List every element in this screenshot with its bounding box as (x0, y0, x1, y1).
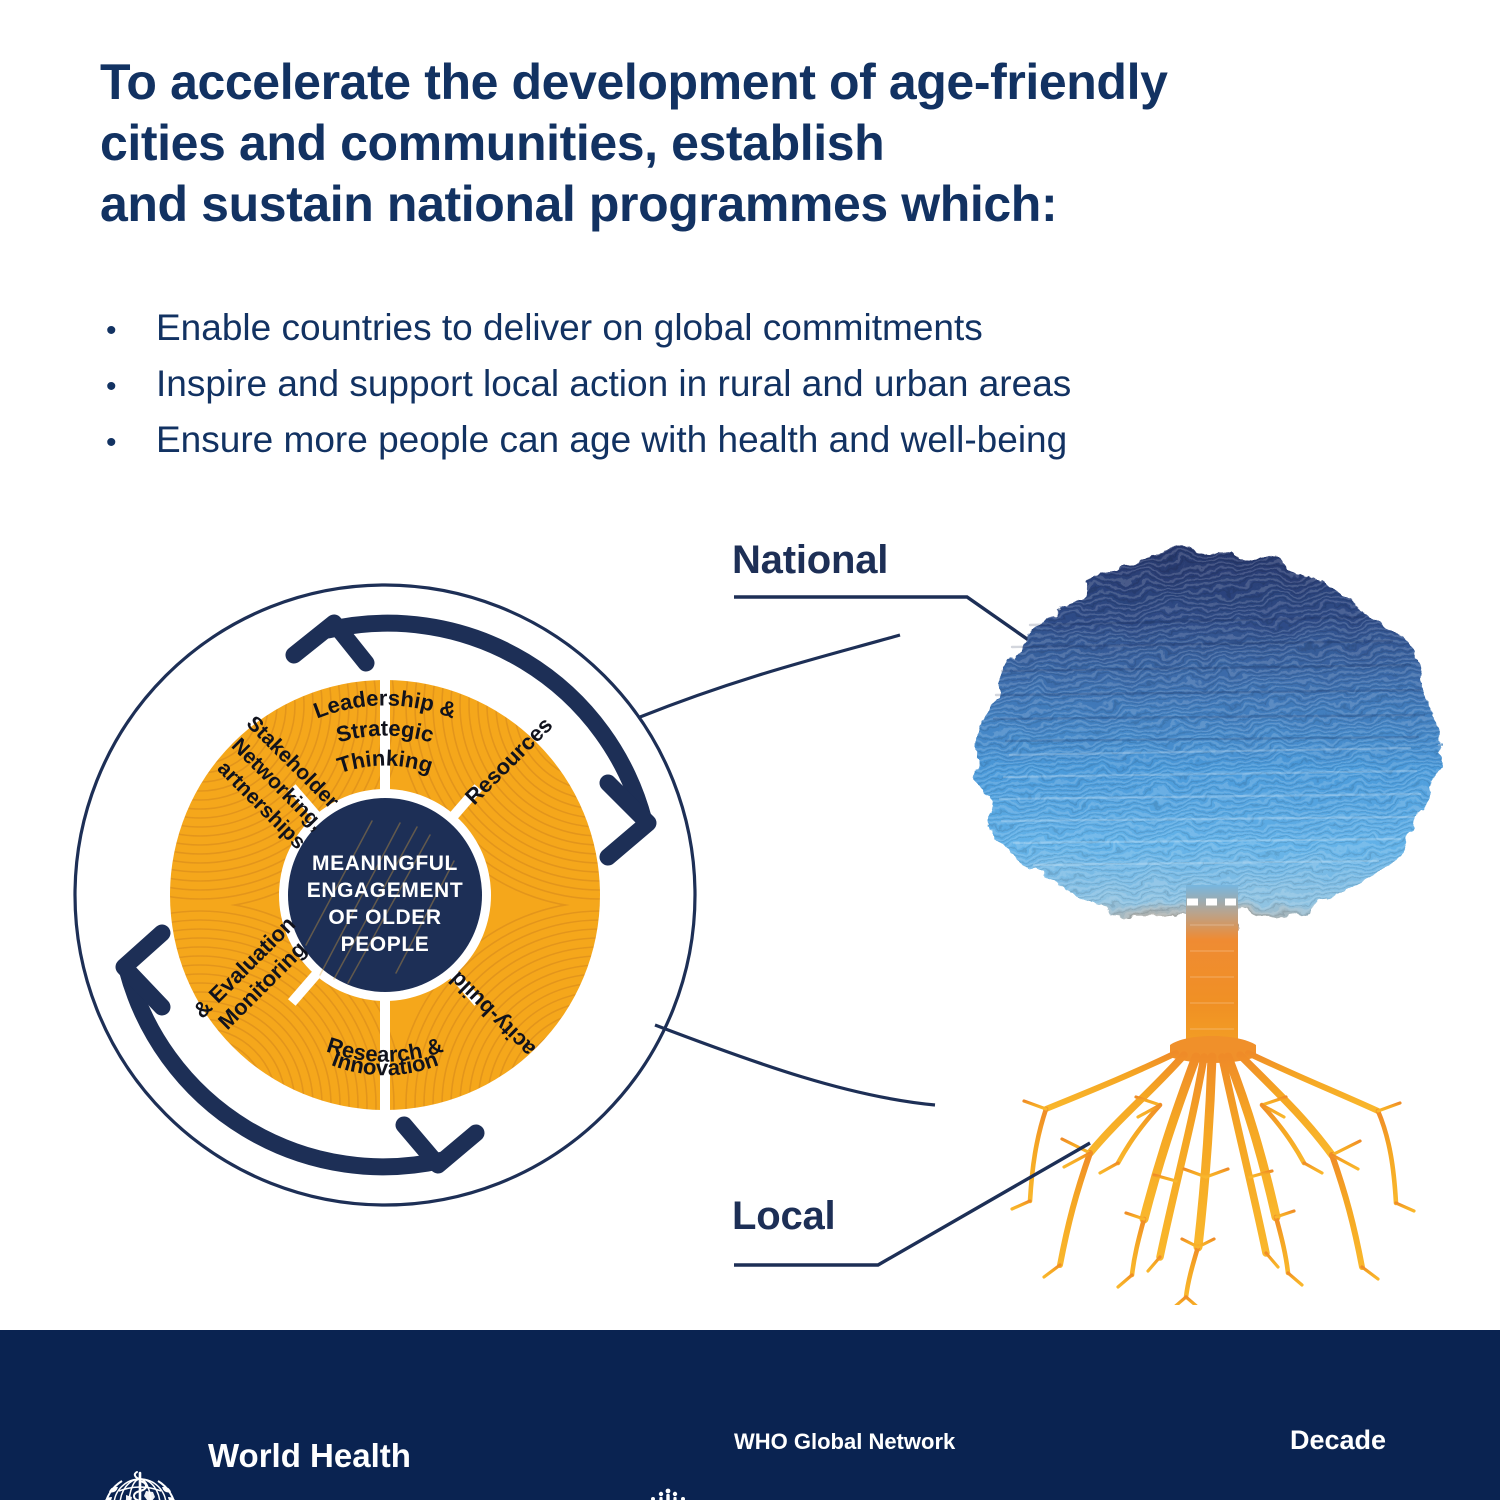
page-title: To accelerate the development of age-fri… (100, 52, 1430, 235)
who-wordmark: World Health Organization (208, 1360, 411, 1500)
decade-wordmark: Decade ofhealthy ageing (1290, 1368, 1475, 1500)
headline-line-2: cities and communities, establish (100, 113, 1430, 174)
global-network-logo: WHO Global Network for Age-friendly Citi… (620, 1368, 963, 1500)
infographic-page: To accelerate the development of age-fri… (0, 0, 1500, 1500)
diagram-area: MEANINGFUL ENGAGEMENT OF OLDER PEOPLE Le… (0, 505, 1500, 1305)
tree-roots-icon (1012, 1036, 1414, 1305)
list-item: • Ensure more people can age with health… (100, 412, 1400, 468)
footer-bar: World Health Organization (0, 1330, 1500, 1500)
list-item: • Inspire and support local action in ru… (100, 356, 1400, 412)
hub-line-2: ENGAGEMENT (307, 879, 464, 902)
who-emblem-icon (88, 1461, 192, 1500)
bullet-marker-icon: • (100, 316, 156, 346)
bullet-text: Inspire and support local action in rura… (156, 356, 1400, 412)
hub-line-3: OF OLDER (328, 906, 441, 929)
gnafcc-line-1: WHO Global Network (734, 1427, 963, 1457)
headline-line-3: and sustain national programmes which: (100, 174, 1430, 235)
decade-logo: Decade ofhealthy ageing (1180, 1368, 1475, 1500)
callout-label-national: National (732, 538, 888, 583)
bullet-text: Ensure more people can age with health a… (156, 412, 1400, 468)
headline-line-1: To accelerate the development of age-fri… (100, 52, 1430, 113)
global-network-wordmark: WHO Global Network for Age-friendly Citi… (734, 1368, 963, 1500)
global-network-globe-icon (620, 1483, 716, 1500)
hub-line-1: MEANINGFUL (312, 852, 458, 875)
bullet-marker-icon: • (100, 372, 156, 402)
who-wordmark-line-1: World Health (208, 1437, 411, 1475)
tree-canopy-icon (976, 550, 1440, 929)
list-item: • Enable countries to deliver on global … (100, 300, 1400, 356)
callout-label-local: Local (732, 1194, 835, 1239)
who-logo: World Health Organization (88, 1360, 411, 1500)
hub-line-4: PEOPLE (341, 933, 430, 956)
decade-line-1: Decade (1290, 1426, 1475, 1455)
bullet-marker-icon: • (100, 428, 156, 458)
bullet-list: • Enable countries to deliver on global … (100, 300, 1400, 469)
tree-trunk-icon (1186, 885, 1238, 1055)
bullet-text: Enable countries to deliver on global co… (156, 300, 1400, 356)
